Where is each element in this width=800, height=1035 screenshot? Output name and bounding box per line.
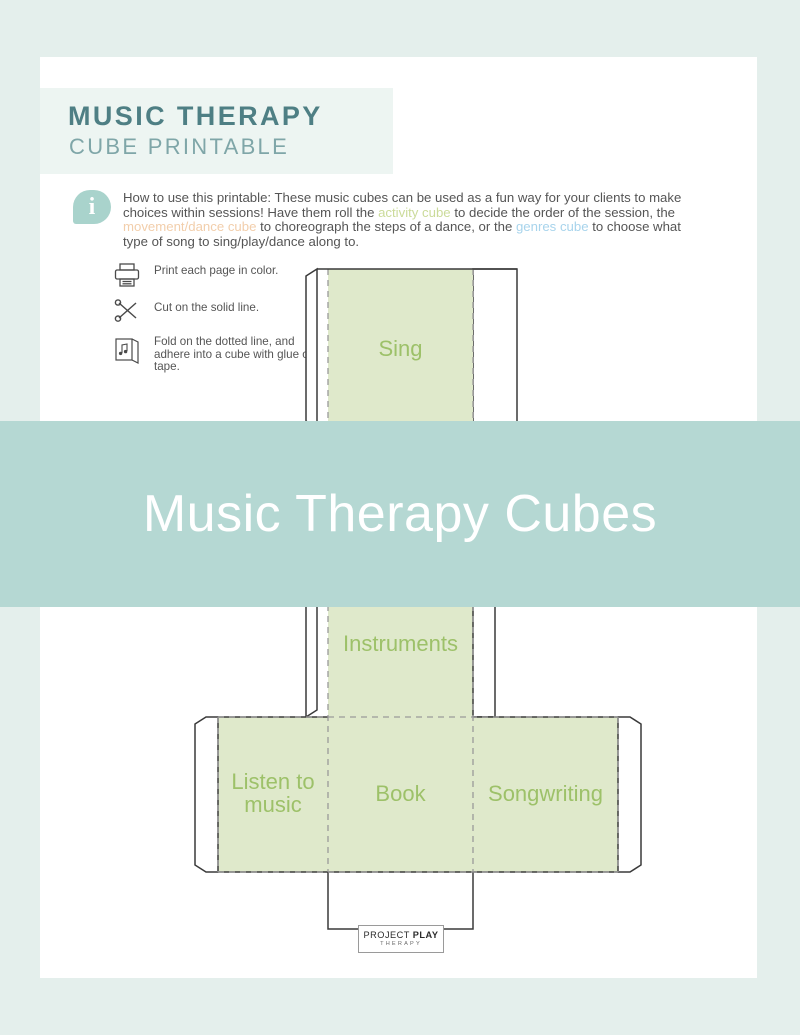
cube-panel-label-listen-to-music: Listen to music bbox=[218, 770, 328, 816]
screenshot-root: MUSIC THERAPY CUBE PRINTABLE i How to us… bbox=[0, 0, 800, 1035]
cube-panel-label-songwriting: Songwriting bbox=[473, 782, 618, 805]
footer-logo-project: PROJECT bbox=[364, 930, 413, 940]
net-bottom-right-flap bbox=[618, 717, 641, 872]
net-instruments-right-flap bbox=[473, 605, 495, 717]
footer-logo: PROJECT PLAY THERAPY bbox=[358, 925, 444, 953]
footer-logo-play: PLAY bbox=[413, 930, 439, 940]
cube-panel-label-instruments: Instruments bbox=[328, 632, 473, 655]
net-bottom-bottom-flap bbox=[328, 872, 473, 929]
net-instruments-left-flap bbox=[306, 605, 317, 717]
cube-panel-label-book: Book bbox=[328, 782, 473, 805]
footer-logo-line2: THERAPY bbox=[380, 940, 422, 948]
net-bottom-panel-instruments bbox=[328, 605, 473, 717]
net-bottom-left-flap bbox=[195, 717, 218, 872]
overlay-banner: Music Therapy Cubes bbox=[0, 421, 800, 607]
overlay-banner-title: Music Therapy Cubes bbox=[0, 421, 800, 607]
footer-logo-line1: PROJECT PLAY bbox=[364, 930, 439, 940]
